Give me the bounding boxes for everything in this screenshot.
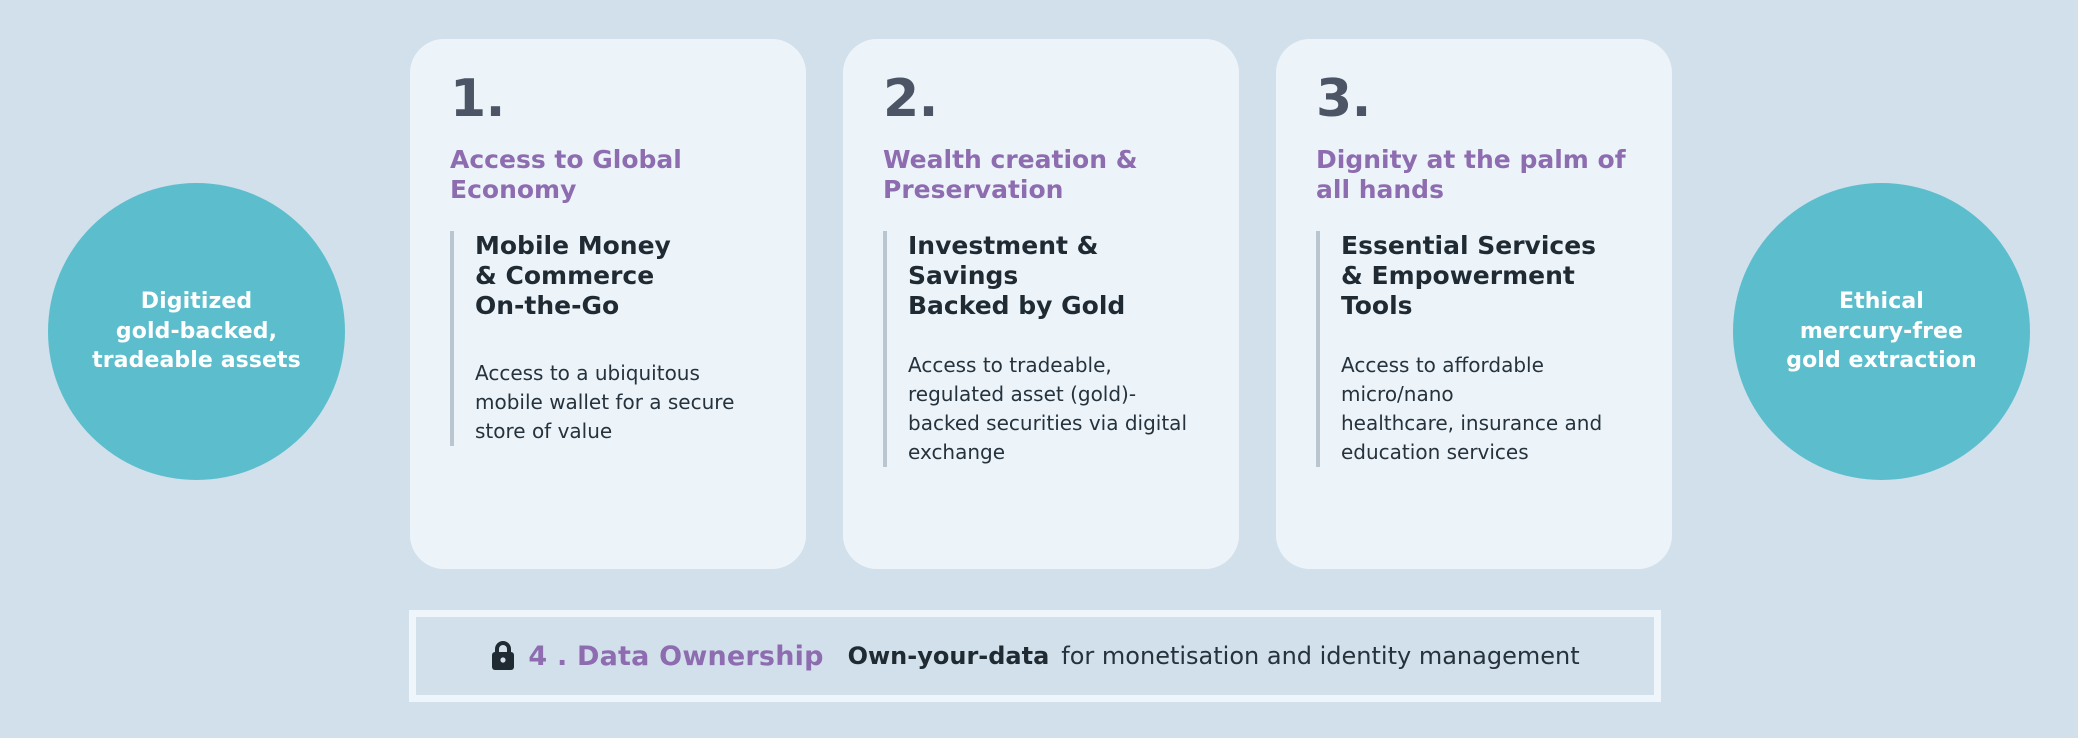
- card-1-number: 1.: [450, 73, 766, 125]
- card-2-title: Wealth creation & Preservation: [883, 145, 1199, 205]
- card-3-body: Essential Services & Empowerment Tools A…: [1316, 231, 1632, 467]
- card-3-title: Dignity at the palm of all hands: [1316, 145, 1632, 205]
- card-2-description: Access to tradeable, regulated asset (go…: [908, 351, 1199, 467]
- banner-rest-text: for monetisation and identity management: [1061, 642, 1579, 670]
- pillar-card-2[interactable]: 2. Wealth creation & Preservation Invest…: [843, 39, 1239, 569]
- card-2-body: Investment & Savings Backed by Gold Acce…: [883, 231, 1199, 467]
- circle-right-label: Ethical mercury-free gold extraction: [1770, 287, 1993, 376]
- card-2-subtitle: Investment & Savings Backed by Gold: [908, 231, 1199, 321]
- pillar-card-1[interactable]: 1. Access to Global Economy Mobile Money…: [410, 39, 806, 569]
- card-1-title: Access to Global Economy: [450, 145, 766, 205]
- banner-step-label: 4 . Data Ownership: [528, 641, 823, 672]
- card-1-description: Access to a ubiquitous mobile wallet for…: [475, 359, 766, 446]
- circle-digitized-assets: Digitized gold-backed, tradeable assets: [48, 183, 345, 480]
- banner-strong-text: Own-your-data: [848, 642, 1050, 670]
- circle-ethical-extraction: Ethical mercury-free gold extraction: [1733, 183, 2030, 480]
- card-3-description: Access to affordable micro/nano healthca…: [1341, 351, 1632, 467]
- card-1-subtitle: Mobile Money & Commerce On-the-Go: [475, 231, 766, 321]
- card-2-number: 2.: [883, 73, 1199, 125]
- card-3-subtitle: Essential Services & Empowerment Tools: [1341, 231, 1632, 321]
- card-3-number: 3.: [1316, 73, 1632, 125]
- banner-content: 4 . Data Ownership Own-your-data for mon…: [490, 640, 1579, 672]
- infographic-canvas: Digitized gold-backed, tradeable assets …: [0, 0, 2078, 738]
- pillar-card-group: 1. Access to Global Economy Mobile Money…: [410, 39, 1672, 569]
- lock-icon: [490, 640, 516, 672]
- pillar-card-3[interactable]: 3. Dignity at the palm of all hands Esse…: [1276, 39, 1672, 569]
- data-ownership-banner[interactable]: 4 . Data Ownership Own-your-data for mon…: [409, 610, 1661, 702]
- circle-left-label: Digitized gold-backed, tradeable assets: [76, 287, 317, 376]
- card-1-body: Mobile Money & Commerce On-the-Go Access…: [450, 231, 766, 446]
